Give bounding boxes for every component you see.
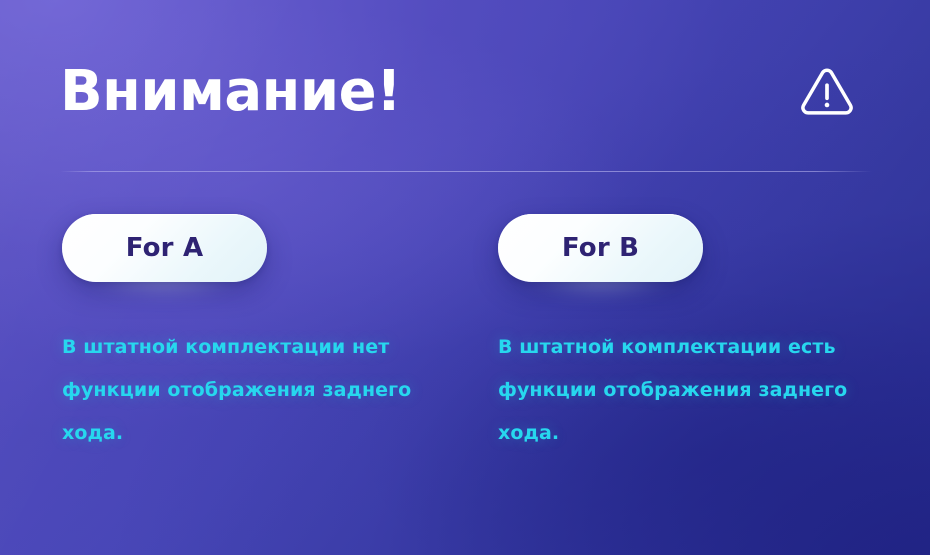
slide-content: Внимание! For A В штатной комплектации н… — [0, 0, 930, 555]
for-a-button[interactable]: For A — [62, 214, 267, 282]
pill-wrapper-for-a: For A — [62, 214, 267, 282]
for-b-button-label: For B — [562, 233, 639, 263]
option-column-for-a: For A В штатной комплектации нет функции… — [62, 214, 462, 455]
for-a-description: В штатной комплектации нет функции отобр… — [62, 282, 444, 455]
for-b-description: В штатной комплектации есть функции отоб… — [498, 282, 880, 455]
header-divider — [60, 171, 872, 172]
warning-slide: Внимание! For A В штатной комплектации н… — [0, 0, 930, 555]
slide-header: Внимание! — [60, 48, 870, 136]
warning-triangle-icon — [796, 61, 858, 123]
pill-wrapper-for-b: For B — [498, 214, 703, 282]
option-column-for-b: For B В штатной комплектации есть функци… — [498, 214, 898, 455]
for-b-button[interactable]: For B — [498, 214, 703, 282]
page-title: Внимание! — [60, 63, 401, 120]
for-a-button-label: For A — [126, 233, 204, 263]
